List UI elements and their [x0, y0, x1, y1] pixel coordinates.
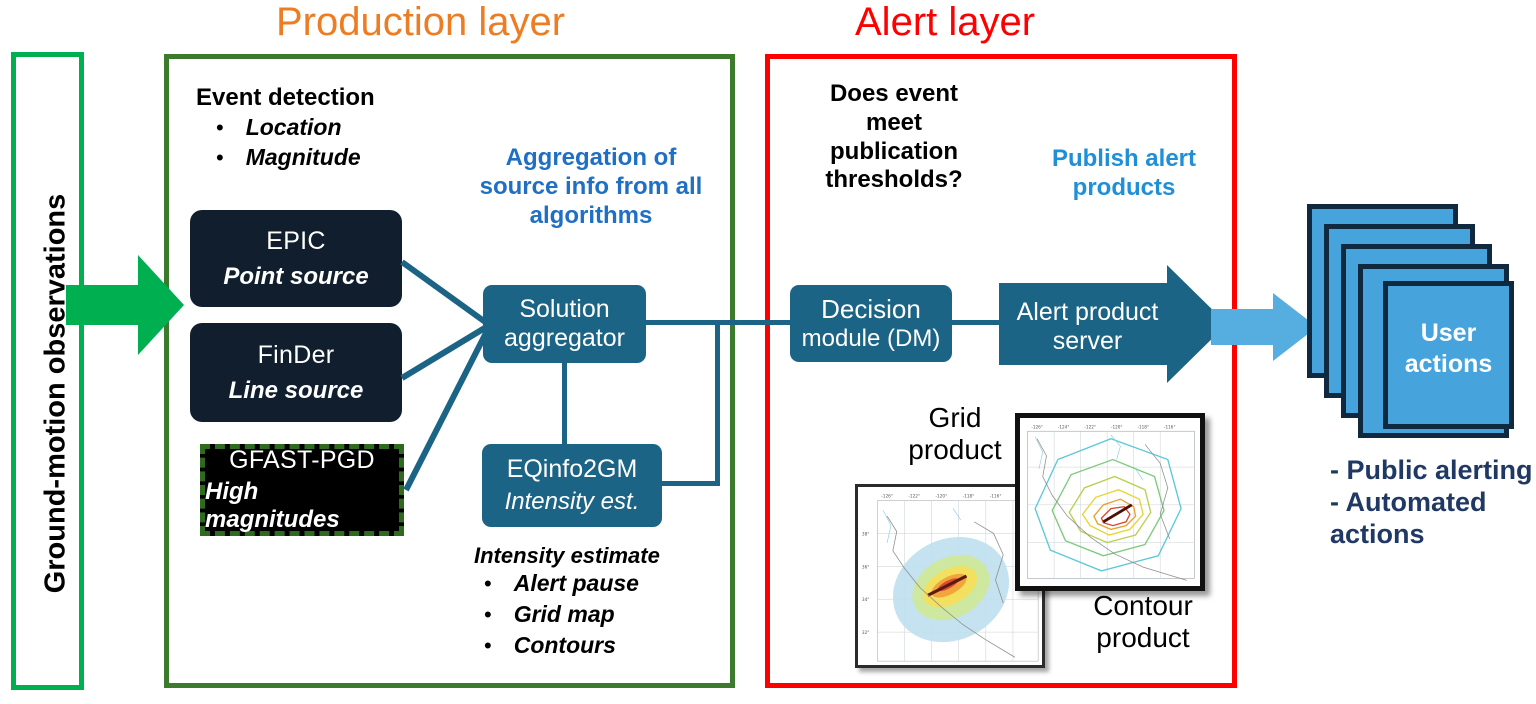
decision-module-box[interactable]: Decision module (DM) [790, 285, 952, 362]
svg-text:-116°: -116° [990, 494, 1002, 500]
intensity-bullet-label: Contours [514, 632, 616, 658]
svg-text:34°: 34° [862, 597, 870, 603]
eqinfo2gm-box[interactable]: EQinfo2GM Intensity est. [482, 444, 662, 527]
algorithm-name-finder: FinDer [258, 341, 335, 370]
user-action-automated-actions: - Automated actions [1330, 487, 1536, 551]
connector-eqinfo2gm-right [662, 481, 720, 486]
user-actions-list: - Public alerting - Automated actions [1330, 455, 1536, 551]
svg-text:-116°: -116° [1164, 424, 1176, 429]
bullet-magnitude: • Magnitude [216, 144, 361, 171]
alert-product-server-line1: Alert product [1005, 298, 1170, 327]
svg-text:-126°: -126° [881, 494, 893, 500]
svg-text:-122°: -122° [908, 494, 920, 500]
algorithm-subtitle-finder: Line source [229, 377, 364, 405]
svg-text:-120°: -120° [935, 494, 947, 500]
ground-motion-observations-box: Ground-motion observations [11, 52, 84, 690]
bullet-dot-icon: • [484, 635, 492, 657]
svg-text:-118°: -118° [1137, 424, 1149, 429]
decision-module-line2: module (DM) [802, 325, 941, 353]
algorithm-subtitle-epic: Point source [223, 263, 368, 291]
production-layer-title: Production layer [276, 2, 565, 42]
user-actions-line1: User [1383, 318, 1514, 349]
user-action-public-alerting: - Public alerting [1330, 455, 1536, 487]
user-actions-line2: actions [1383, 349, 1514, 380]
bullet-location-label: Location [246, 114, 342, 141]
svg-text:-118°: -118° [963, 494, 975, 500]
algorithm-box-epic[interactable]: EPIC Point source [190, 210, 402, 307]
contour-product-thumbnail[interactable]: -126°-124° -122°-120° -118°-116° [1015, 413, 1205, 591]
connector-dm-to-alert-server [952, 320, 1000, 325]
eqinfo2gm-line1: EQinfo2GM [507, 455, 638, 484]
svg-text:-124°: -124° [1058, 424, 1070, 429]
solution-aggregator-line2: aggregator [504, 324, 625, 353]
svg-text:-120°: -120° [1111, 424, 1123, 429]
ground-motion-observations-label: Ground-motion observations [40, 84, 73, 704]
svg-text:-126°: -126° [1031, 424, 1043, 429]
svg-text:32°: 32° [862, 630, 870, 636]
bullet-dot-icon: • [216, 117, 224, 139]
bullet-magnitude-label: Magnitude [246, 144, 361, 171]
connector-aggregator-to-eqinfo2gm [562, 363, 567, 445]
event-detection-heading: Event detection [196, 84, 375, 111]
publish-alert-products-note: Publish alert products [1026, 145, 1222, 203]
svg-text:36°: 36° [862, 564, 870, 570]
ground-motion-arrow-icon [66, 255, 184, 355]
bullet-dot-icon: • [216, 147, 224, 169]
algorithm-box-finder[interactable]: FinDer Line source [190, 323, 402, 422]
aggregation-note: Aggregation of source info from all algo… [466, 144, 716, 230]
intensity-bullet-alert-pause: • Alert pause [484, 570, 639, 596]
intensity-bullet-grid-map: • Grid map [484, 601, 639, 627]
intensity-estimate-list: • Alert pause • Grid map • Contours [484, 570, 639, 664]
intensity-bullet-label: Grid map [514, 601, 615, 627]
user-actions-arrow-icon [1211, 293, 1317, 361]
algorithm-box-gfast-pgd[interactable]: GFAST-PGD High magnitudes [200, 444, 404, 536]
bullet-location: • Location [216, 114, 342, 141]
svg-text:-122°: -122° [1084, 424, 1096, 429]
solution-aggregator-box[interactable]: Solution aggregator [483, 285, 646, 363]
bullet-dot-icon: • [484, 604, 492, 626]
publication-threshold-note: Does event meet publication thresholds? [806, 80, 982, 195]
bullet-dot-icon: • [484, 573, 492, 595]
intensity-bullet-contours: • Contours [484, 632, 639, 658]
svg-text:38°: 38° [862, 531, 870, 537]
connector-eqinfo2gm-riser [715, 322, 720, 486]
user-actions-label: User actions [1383, 318, 1514, 379]
alert-product-server-label: Alert product server [1005, 298, 1170, 356]
contour-product-label: Contour product [1058, 590, 1228, 654]
alert-product-server-line2: server [1005, 327, 1170, 356]
algorithm-subtitle-gfast-pgd: High magnitudes [205, 478, 399, 534]
diagram-canvas: Production layer Alert layer Ground-moti… [0, 0, 1536, 697]
alert-layer-title: Alert layer [855, 2, 1035, 42]
decision-module-line1: Decision [821, 294, 921, 324]
intensity-estimate-heading: Intensity estimate [474, 543, 660, 569]
algorithm-name-gfast-pgd: GFAST-PGD [229, 446, 375, 475]
algorithm-name-epic: EPIC [266, 227, 326, 256]
eqinfo2gm-line2: Intensity est. [505, 488, 640, 516]
intensity-bullet-label: Alert pause [514, 570, 639, 596]
solution-aggregator-line1: Solution [519, 295, 609, 324]
grid-product-label: Grid product [900, 402, 1010, 466]
